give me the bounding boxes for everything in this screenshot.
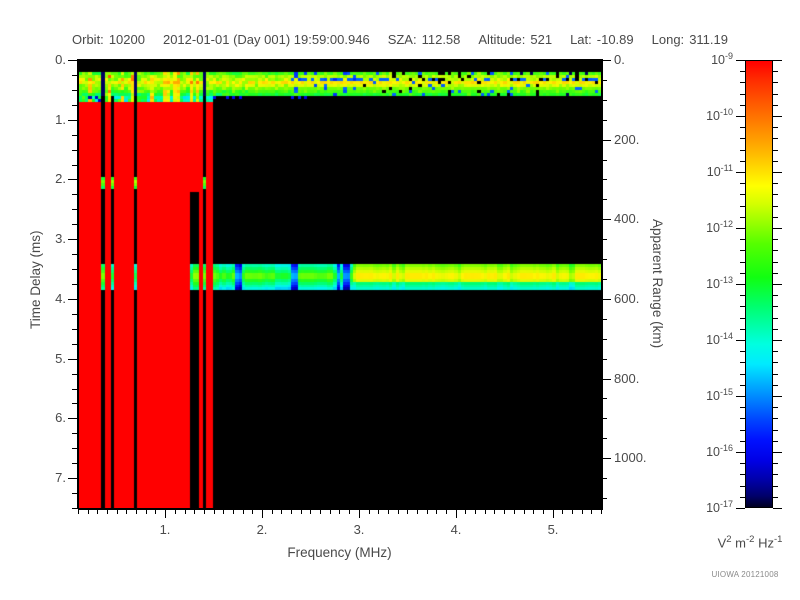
x-tick-label-2: 2. (237, 522, 287, 537)
y-tick-minor-2.5 (72, 209, 77, 210)
colorbar-tick-left--13.8 (740, 329, 745, 330)
header-field-1: 2012-01-01 (Day 001) 19:59:00.946 (163, 32, 370, 47)
colorbar-tick-right--15 (773, 396, 782, 397)
colorbar-tick-right--16.8 (773, 497, 778, 498)
header-field-label-3: Altitude: (478, 32, 525, 47)
colorbar-tick-left--11.4 (740, 194, 745, 195)
y2-tick-minor-500 (602, 259, 607, 260)
x-tick-minor-2.8 (339, 509, 340, 514)
y-tick-minor-7.5 (72, 508, 77, 509)
y-axis-title-apparent-range: Apparent Range (km) (650, 219, 665, 348)
x-tick-minor-3.7 (427, 509, 428, 514)
header-field-value-2: 112.58 (422, 32, 461, 47)
colorbar-tick-left--15.4 (740, 418, 745, 419)
colorbar-tick-right--13.6 (773, 318, 778, 319)
x-tick-minor-3.2 (378, 509, 379, 514)
y2-tick-minor-250 (602, 160, 607, 161)
y2-tick-minor-750 (602, 359, 607, 360)
colorbar-label-base: 10 (711, 53, 725, 67)
colorbar-label-exponent: -16 (720, 443, 733, 453)
colorbar-tick-label--13: 10-13 (681, 275, 733, 291)
units-exp-2: -1 (774, 534, 782, 545)
colorbar-tick-label--11: 10-11 (681, 163, 733, 179)
credit-label: UIOWA 20121008 (690, 570, 800, 579)
y2-tick-minor-150 (602, 120, 607, 121)
x-tick-minor-2.9 (349, 509, 350, 514)
y2-tick-minor-450 (602, 239, 607, 240)
y-tick-label-1: 1. (20, 112, 66, 127)
x-tick-minor-4.7 (524, 509, 525, 514)
x-tick-minor-1.2 (185, 509, 186, 514)
colorbar-tick-left--10.8 (740, 161, 745, 162)
header-field-3: Altitude:521 (478, 32, 552, 47)
y-tick-major-7 (68, 478, 77, 479)
y2-tick-major-1000 (602, 458, 611, 459)
colorbar-tick-right--10.8 (773, 161, 778, 162)
colorbar-tick-left--14.8 (740, 385, 745, 386)
x-tick-minor-0.8 (146, 509, 147, 514)
header-field-label-4: Lat: (570, 32, 592, 47)
colorbar-tick-right--9 (773, 60, 782, 61)
header-field-value-0: 10200 (109, 32, 145, 47)
colorbar-tick-left--17 (736, 508, 745, 509)
colorbar-tick-left--10.2 (740, 127, 745, 128)
axis-line-left (77, 59, 78, 509)
x-tick-minor-5.3 (582, 509, 583, 514)
colorbar-tick-left--14.6 (740, 374, 745, 375)
y-tick-minor-6.25 (72, 433, 77, 434)
y2-tick-major-400 (602, 219, 611, 220)
y-tick-major-0 (68, 60, 77, 61)
y-tick-minor-3.25 (72, 254, 77, 255)
units-base-0: V (718, 535, 727, 550)
colorbar-tick-label--14: 10-14 (681, 331, 733, 347)
y-tick-label-2: 2. (20, 171, 66, 186)
y2-tick-minor-550 (602, 279, 607, 280)
colorbar-tick-left--9 (736, 60, 745, 61)
x-tick-minor-1.7 (233, 509, 234, 514)
units-exp-0: 2 (726, 534, 731, 545)
x-tick-major-5 (553, 509, 554, 518)
x-tick-minor-1.6 (223, 509, 224, 514)
colorbar-tick-right--14.4 (773, 362, 778, 363)
colorbar-tick-right--12.8 (773, 273, 778, 274)
y-tick-minor-2.75 (72, 224, 77, 225)
x-tick-minor-4.5 (504, 509, 505, 514)
colorbar-tick-right--11.6 (773, 206, 778, 207)
colorbar-tick-right--16 (773, 452, 782, 453)
x-tick-minor-0.1 (78, 509, 79, 514)
y2-tick-label-1000: 1000. (614, 450, 674, 465)
colorbar-tick-label--10: 10-10 (681, 107, 733, 123)
colorbar-tick-left--16.2 (740, 463, 745, 464)
y-tick-major-6 (68, 418, 77, 419)
colorbar (745, 60, 773, 508)
header-field-4: Lat:-10.89 (570, 32, 634, 47)
colorbar-label-base: 10 (706, 389, 720, 403)
y-tick-major-3 (68, 239, 77, 240)
colorbar-tick-right--16.2 (773, 463, 778, 464)
colorbar-gradient (745, 60, 773, 508)
y-tick-minor-3.75 (72, 284, 77, 285)
x-tick-minor-3.9 (446, 509, 447, 514)
y-tick-minor-6.75 (72, 463, 77, 464)
y-tick-minor-4.25 (72, 314, 77, 315)
x-tick-major-1 (165, 509, 166, 518)
header-field-label-5: Long: (652, 32, 685, 47)
colorbar-label-exponent: -13 (720, 275, 733, 285)
x-tick-minor-4.8 (533, 509, 534, 514)
header-field-value-3: 521 (530, 32, 552, 47)
y-tick-major-2 (68, 179, 77, 180)
y-tick-minor-1.5 (72, 150, 77, 151)
x-tick-minor-3.8 (436, 509, 437, 514)
colorbar-tick-left--10 (736, 116, 745, 117)
colorbar-tick-right--14 (773, 340, 782, 341)
y-tick-minor-6.5 (72, 448, 77, 449)
y-tick-minor-0.5 (72, 90, 77, 91)
x-tick-minor-2.7 (330, 509, 331, 514)
colorbar-tick-right--13.4 (773, 306, 778, 307)
colorbar-tick-left--13 (736, 284, 745, 285)
colorbar-tick-left--16.8 (740, 497, 745, 498)
y2-tick-minor-650 (602, 319, 607, 320)
x-tick-minor-0.2 (88, 509, 89, 514)
colorbar-tick-left--9.2 (740, 71, 745, 72)
header-field-0: Orbit:10200 (72, 32, 145, 47)
y2-tick-minor-850 (602, 398, 607, 399)
colorbar-tick-right--9.2 (773, 71, 778, 72)
y-tick-major-4 (68, 299, 77, 300)
colorbar-label-base: 10 (706, 501, 720, 515)
colorbar-tick-right--15.2 (773, 407, 778, 408)
x-tick-minor-4.4 (494, 509, 495, 514)
colorbar-label-exponent: -9 (725, 51, 733, 61)
x-tick-minor-3.3 (388, 509, 389, 514)
colorbar-tick-left--12 (736, 228, 745, 229)
x-tick-minor-5.1 (562, 509, 563, 514)
x-tick-minor-0.5 (117, 509, 118, 514)
colorbar-tick-right--11.8 (773, 217, 778, 218)
colorbar-label-base: 10 (707, 165, 721, 179)
colorbar-tick-left--11.8 (740, 217, 745, 218)
x-tick-minor-0.6 (126, 509, 127, 514)
y2-tick-label-0: 0. (614, 52, 674, 67)
y-tick-minor-4.5 (72, 329, 77, 330)
colorbar-tick-label--12: 10-12 (681, 219, 733, 235)
header-info-line: Orbit:102002012-01-01 (Day 001) 19:59:00… (0, 30, 800, 48)
colorbar-tick-left--9.8 (740, 105, 745, 106)
x-tick-minor-3.5 (407, 509, 408, 514)
y2-tick-major-600 (602, 299, 611, 300)
y2-tick-minor-100 (602, 100, 607, 101)
colorbar-tick-left--12.6 (740, 262, 745, 263)
colorbar-tick-right--10.6 (773, 150, 778, 151)
spectrogram-plot-area (78, 60, 603, 510)
colorbar-units-label: V2 m-2 Hz-1 (700, 534, 800, 550)
x-tick-major-2 (262, 509, 263, 518)
colorbar-tick-right--9.4 (773, 82, 778, 83)
x-tick-label-1: 1. (140, 522, 190, 537)
y2-tick-label-600: 600. (614, 291, 674, 306)
colorbar-tick-right--13.2 (773, 295, 778, 296)
y-tick-minor-1.75 (72, 165, 77, 166)
colorbar-tick-left--15 (736, 396, 745, 397)
colorbar-tick-left--9.6 (740, 94, 745, 95)
colorbar-label-exponent: -17 (720, 499, 733, 509)
colorbar-tick-left--16.4 (740, 474, 745, 475)
units-base-1: m (735, 535, 746, 550)
header-field-label-0: Orbit: (72, 32, 104, 47)
colorbar-tick-right--11.2 (773, 183, 778, 184)
header-field-5: Long:311.19 (652, 32, 728, 47)
x-tick-major-3 (359, 509, 360, 518)
y-tick-minor-7.25 (72, 493, 77, 494)
units-exp-1: -2 (746, 534, 754, 545)
colorbar-tick-right--16.6 (773, 486, 778, 487)
colorbar-tick-left--10.4 (740, 138, 745, 139)
y-tick-label-0: 0. (20, 52, 66, 67)
x-tick-minor-2.2 (281, 509, 282, 514)
colorbar-label-exponent: -10 (720, 107, 733, 117)
colorbar-label-exponent: -14 (720, 331, 733, 341)
x-tick-minor-2.6 (320, 509, 321, 514)
header-field-2: SZA:112.58 (388, 32, 461, 47)
y2-tick-minor-1050 (602, 478, 607, 479)
y-tick-minor-4.75 (72, 344, 77, 345)
axis-line-top (78, 59, 603, 60)
y-tick-minor-5.25 (72, 374, 77, 375)
colorbar-tick-right--14.2 (773, 351, 778, 352)
colorbar-label-base: 10 (706, 277, 720, 291)
colorbar-label-exponent: -15 (720, 387, 733, 397)
y-tick-label-3: 3. (20, 231, 66, 246)
colorbar-tick-right--12.2 (773, 239, 778, 240)
x-tick-label-4: 4. (431, 522, 481, 537)
colorbar-tick-right--13 (773, 284, 782, 285)
x-tick-minor-1.5 (214, 509, 215, 514)
colorbar-tick-left--12.8 (740, 273, 745, 274)
y-tick-minor-1.25 (72, 135, 77, 136)
y2-tick-major-800 (602, 379, 611, 380)
colorbar-tick-left--13.6 (740, 318, 745, 319)
x-tick-minor-0.9 (155, 509, 156, 514)
units-base-2: Hz (758, 535, 774, 550)
colorbar-tick-label--16: 10-16 (681, 443, 733, 459)
x-tick-minor-2.3 (291, 509, 292, 514)
x-tick-minor-1.9 (252, 509, 253, 514)
header-field-value-5: 311.19 (689, 32, 728, 47)
y2-tick-label-400: 400. (614, 211, 674, 226)
colorbar-tick-right--10.4 (773, 138, 778, 139)
colorbar-tick-left--13.2 (740, 295, 745, 296)
colorbar-tick-right--10.2 (773, 127, 778, 128)
colorbar-tick-right--11.4 (773, 194, 778, 195)
x-tick-minor-4.3 (485, 509, 486, 514)
colorbar-tick-right--14.6 (773, 374, 778, 375)
x-tick-minor-2.4 (301, 509, 302, 514)
x-tick-minor-0.7 (136, 509, 137, 514)
colorbar-tick-right--17 (773, 508, 782, 509)
colorbar-tick-left--15.8 (740, 441, 745, 442)
y-tick-label-5: 5. (20, 351, 66, 366)
y-tick-label-6: 6. (20, 410, 66, 425)
colorbar-tick-left--12.2 (740, 239, 745, 240)
colorbar-tick-right--13.8 (773, 329, 778, 330)
colorbar-tick-right--9.8 (773, 105, 778, 106)
y-tick-minor-0.25 (72, 75, 77, 76)
colorbar-tick-right--12.6 (773, 262, 778, 263)
colorbar-tick-label--17: 10-17 (681, 499, 733, 515)
colorbar-label-exponent: -12 (720, 219, 733, 229)
y2-tick-label-200: 200. (614, 132, 674, 147)
colorbar-tick-left--10.6 (740, 150, 745, 151)
y-tick-minor-3.5 (72, 269, 77, 270)
x-tick-minor-2.5 (310, 509, 311, 514)
x-tick-minor-5.2 (572, 509, 573, 514)
y2-tick-major-200 (602, 140, 611, 141)
colorbar-tick-right--11 (773, 172, 782, 173)
colorbar-tick-right--9.6 (773, 94, 778, 95)
colorbar-tick-left--15.2 (740, 407, 745, 408)
x-tick-minor-4.9 (543, 509, 544, 514)
colorbar-tick-right--12 (773, 228, 782, 229)
x-tick-minor-3.6 (417, 509, 418, 514)
y-tick-minor-0.75 (72, 105, 77, 106)
x-tick-minor-5.4 (591, 509, 592, 514)
x-tick-label-3: 3. (334, 522, 384, 537)
y2-tick-label-800: 800. (614, 371, 674, 386)
y2-tick-minor-700 (602, 339, 607, 340)
colorbar-tick-right--10 (773, 116, 782, 117)
colorbar-tick-left--12.4 (740, 250, 745, 251)
x-axis-title-frequency: Frequency (MHz) (280, 545, 400, 560)
colorbar-tick-left--15.6 (740, 430, 745, 431)
colorbar-label-base: 10 (706, 333, 720, 347)
colorbar-tick-left--11.6 (740, 206, 745, 207)
colorbar-tick-left--14 (736, 340, 745, 341)
x-tick-minor-1.1 (175, 509, 176, 514)
colorbar-tick-left--16.6 (740, 486, 745, 487)
x-tick-minor-5.5 (601, 509, 602, 514)
x-tick-minor-0.4 (107, 509, 108, 514)
y-tick-minor-5.75 (72, 403, 77, 404)
colorbar-label-base: 10 (706, 109, 720, 123)
y2-tick-minor-300 (602, 179, 607, 180)
x-tick-major-4 (456, 509, 457, 518)
colorbar-tick-left--9.4 (740, 82, 745, 83)
y2-tick-major-0 (602, 60, 611, 61)
x-tick-minor-1.4 (204, 509, 205, 514)
colorbar-tick-right--15.6 (773, 430, 778, 431)
y2-tick-minor-950 (602, 438, 607, 439)
x-tick-minor-4.1 (465, 509, 466, 514)
header-field-label-2: SZA: (388, 32, 417, 47)
x-tick-minor-0.3 (97, 509, 98, 514)
colorbar-tick-label--9: 10-9 (681, 51, 733, 67)
colorbar-tick-left--16 (736, 452, 745, 453)
x-tick-minor-1.8 (243, 509, 244, 514)
y2-tick-minor-1100 (602, 498, 607, 499)
colorbar-tick-left--13.4 (740, 306, 745, 307)
colorbar-tick-right--16.4 (773, 474, 778, 475)
colorbar-tick-right--15.4 (773, 418, 778, 419)
colorbar-label-base: 10 (706, 445, 720, 459)
colorbar-tick-right--14.8 (773, 385, 778, 386)
colorbar-tick-left--11.2 (740, 183, 745, 184)
colorbar-tick-right--12.4 (773, 250, 778, 251)
colorbar-label-exponent: -11 (721, 163, 733, 173)
colorbar-tick-left--14.4 (740, 362, 745, 363)
y2-tick-minor-350 (602, 199, 607, 200)
x-tick-minor-3.4 (398, 509, 399, 514)
y-tick-label-7: 7. (20, 470, 66, 485)
y-axis-title-time-delay: Time Delay (ms) (28, 230, 43, 329)
x-tick-minor-1.3 (194, 509, 195, 514)
x-tick-minor-4.6 (514, 509, 515, 514)
x-tick-minor-2.1 (272, 509, 273, 514)
y-tick-minor-2.25 (72, 194, 77, 195)
y-tick-label-4: 4. (20, 291, 66, 306)
y-tick-minor-5.5 (72, 389, 77, 390)
header-field-value-4: -10.89 (597, 32, 634, 47)
colorbar-tick-left--14.2 (740, 351, 745, 352)
colorbar-tick-right--15.8 (773, 441, 778, 442)
x-tick-minor-3.1 (369, 509, 370, 514)
colorbar-label-base: 10 (706, 221, 720, 235)
colorbar-tick-left--11 (736, 172, 745, 173)
y-tick-major-1 (68, 120, 77, 121)
y2-tick-minor-50 (602, 80, 607, 81)
y2-tick-minor-900 (602, 418, 607, 419)
x-tick-label-5: 5. (528, 522, 578, 537)
spectrogram-heatmap (79, 61, 602, 509)
header-field-value-1: 2012-01-01 (Day 001) 19:59:00.946 (163, 32, 370, 47)
y-tick-major-5 (68, 359, 77, 360)
colorbar-tick-label--15: 10-15 (681, 387, 733, 403)
axis-line-right (601, 59, 602, 509)
x-tick-minor-4.2 (475, 509, 476, 514)
